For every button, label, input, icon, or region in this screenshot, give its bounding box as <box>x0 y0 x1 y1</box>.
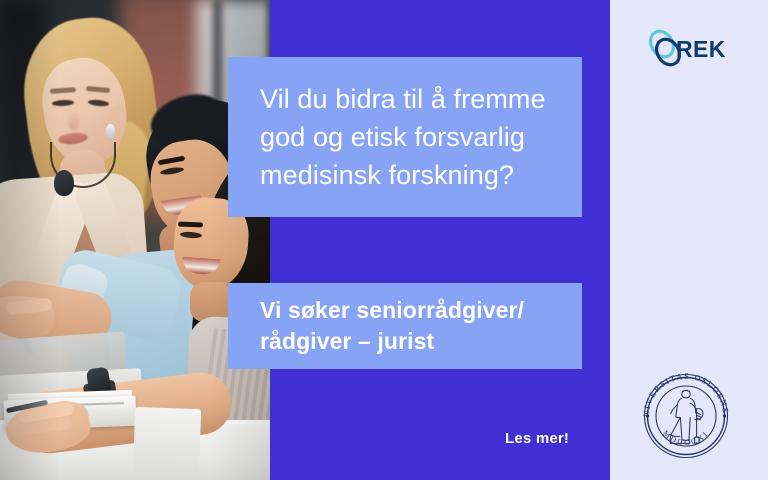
read-more-link[interactable]: Les mer! <box>505 430 569 447</box>
headline-line-3: medisinsk forskning? <box>260 156 546 194</box>
job-title-line-1: Vi søker seniorrådgiver/ <box>260 295 524 326</box>
seal-bottom-text: MDCCCXI <box>661 429 711 448</box>
university-of-oslo-seal: UNIVERSITAS OSLOENSIS MDCCCXI <box>636 366 736 466</box>
job-title-box: Vi søker seniorrådgiver/ rådgiver – juri… <box>228 283 582 369</box>
headline-box: Vil du bidra til å fremme god og etisk f… <box>228 57 582 217</box>
rek-wordmark: REK <box>676 36 726 63</box>
headline-line-1: Vil du bidra til å fremme <box>260 80 546 118</box>
headline-line-2: god og etisk forsvarlig <box>260 118 546 156</box>
rek-recruitment-banner: Vil du bidra til å fremme god og etisk f… <box>0 0 768 480</box>
job-title-line-2: rådgiver – jurist <box>260 326 524 357</box>
university-of-oslo-seal-icon: UNIVERSITAS OSLOENSIS MDCCCXI <box>636 366 736 466</box>
